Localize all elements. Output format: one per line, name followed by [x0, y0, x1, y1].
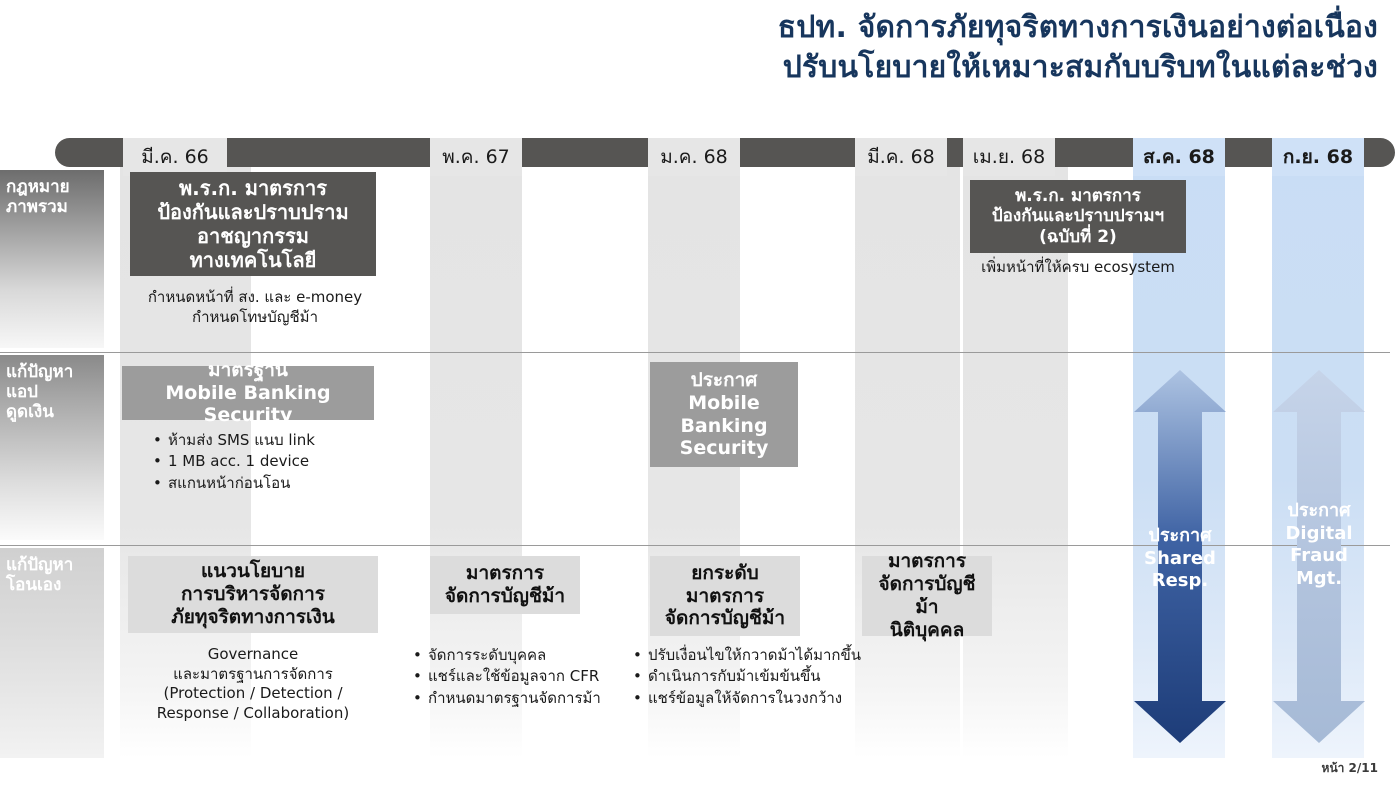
subtext-line-4: Response / Collaboration) — [113, 704, 393, 724]
card-title-line-4: Security — [680, 437, 769, 460]
card-title-line-1: มาตรฐาน — [130, 359, 366, 382]
subtext-line-1: Governance — [113, 645, 393, 665]
date-chip-2567-05[interactable]: พ.ค. 67 — [430, 138, 522, 176]
bullet-item: แชร์และใช้ข้อมูลจาก CFR — [428, 666, 601, 687]
date-chip-2568-09[interactable]: ก.ย. 68 — [1272, 138, 1364, 176]
date-chip-label: มี.ค. 68 — [867, 142, 935, 172]
date-chip-label: ส.ค. 68 — [1143, 142, 1215, 172]
card-mule-upgrade[interactable]: ยกระดับ มาตรการ จัดการบัญชีม้า — [650, 556, 800, 636]
date-chip-label: พ.ค. 67 — [442, 142, 510, 172]
card-law-2566[interactable]: พ.ร.ก. มาตรการ ป้องกันและปราบปราม อาชญาก… — [130, 172, 376, 276]
title-line-2: ปรับนโยบายให้เหมาะสมกับบริบทในแต่ละช่วง — [558, 48, 1378, 88]
card-title-line-3: อาชญากรรม — [157, 224, 348, 248]
arrow-label: ประกาศ Shared Resp. — [1134, 525, 1226, 593]
card-policy-governance[interactable]: แนวนโยบาย การบริหารจัดการ ภัยทุจริตทางกา… — [128, 556, 378, 633]
bullet-item: 1 MB acc. 1 device — [168, 451, 315, 472]
subtext-line-2: กำหนดโทษบัญชีม้า — [110, 308, 400, 328]
row-label-app-fraud: แก้ปัญหา แอป ดูดเงิน — [0, 355, 104, 540]
row-label-line-1: แก้ปัญหา — [6, 556, 104, 576]
card-law-2568-subtext: เพิ่มหน้าที่ให้ครบ ecosystem — [950, 258, 1206, 278]
card-title-line-4: ทางเทคโนโลยี — [157, 248, 348, 272]
card-title-line-3: ภัยทุจริตทางการเงิน — [171, 606, 334, 629]
card-title-line-3: นิติบุคคล — [870, 619, 984, 642]
arrow-label: ประกาศ Digital Fraud Mgt. — [1273, 500, 1365, 590]
date-chip-2568-04[interactable]: เม.ย. 68 — [963, 138, 1055, 176]
row-label-line-1: กฎหมาย — [6, 178, 104, 198]
date-chip-2568-03[interactable]: มี.ค. 68 — [855, 138, 947, 176]
card-title-line-2: Mobile — [680, 392, 769, 415]
bullet-item: จัดการระดับบุคคล — [428, 645, 601, 666]
arrow-label-line-2: Digital — [1273, 523, 1365, 546]
arrow-digital-fraud-mgt[interactable]: ประกาศ Digital Fraud Mgt. — [1273, 370, 1365, 743]
card-title-line-1: มาตรการ — [445, 562, 565, 585]
bullet-item: กำหนดมาตรฐานจัดการม้า — [428, 688, 601, 709]
arrow-shared-resp[interactable]: ประกาศ Shared Resp. — [1134, 370, 1226, 743]
card-title-line-1: พ.ร.ก. มาตรการ — [157, 176, 348, 200]
bullet-item: ปรับเงื่อนไขให้กวาดม้าได้มากขึ้น — [648, 645, 861, 666]
bullet-item: แชร์ข้อมูลให้จัดการในวงกว้าง — [648, 688, 861, 709]
date-chip-label: มี.ค. 66 — [141, 142, 209, 172]
subtext-line-3: (Protection / Detection / — [113, 684, 393, 704]
subtext-line-1: กำหนดหน้าที่ สง. และ e-money — [110, 288, 400, 308]
card-title-line-2: การบริหารจัดการ — [171, 583, 334, 606]
bullet-item: สแกนหน้าก่อนโอน — [168, 473, 315, 494]
card-law-2566-subtext: กำหนดหน้าที่ สง. และ e-money กำหนดโทษบัญ… — [110, 288, 400, 327]
row-label-line-1: แก้ปัญหา — [6, 363, 104, 383]
arrow-label-line-2: Shared — [1134, 548, 1226, 571]
arrow-label-line-1: ประกาศ — [1273, 500, 1365, 523]
card-title-line-3: Banking — [680, 415, 769, 438]
card-title-line-2: ป้องกันและปราบปราม — [157, 200, 348, 224]
card-title-line-2: ป้องกันและปราบปรามฯ — [992, 206, 1164, 226]
bullet-item: ดำเนินการกับม้าเข้มข้นขึ้น — [648, 666, 861, 687]
page-number: หน้า 2/11 — [1322, 759, 1378, 778]
row-label-line-2: ภาพรวม — [6, 198, 104, 218]
card-title-line-3: จัดการบัญชีม้า — [665, 607, 785, 630]
page-title: ธปท. จัดการภัยทุจริตทางการเงินอย่างต่อเน… — [558, 8, 1378, 87]
card-mule-juristic[interactable]: มาตรการ จัดการบัญชีม้า นิติบุคคล — [862, 556, 992, 636]
subtext-line-1: เพิ่มหน้าที่ให้ครบ ecosystem — [950, 258, 1206, 278]
card-policy-governance-subtext: Governance และมาตรฐานการจัดการ (Protecti… — [113, 645, 393, 723]
card-title-line-1: มาตรการ — [870, 550, 984, 573]
card-title-line-1: พ.ร.ก. มาตรการ — [992, 186, 1164, 206]
date-chip-label: ก.ย. 68 — [1283, 142, 1353, 172]
card-title-line-1: แนวนโยบาย — [171, 560, 334, 583]
card-mule-measures-bullets: จัดการระดับบุคคล แชร์และใช้ข้อมูลจาก CFR… — [412, 645, 601, 709]
card-mbs-standard-bullets: ห้ามส่ง SMS แนบ link 1 MB acc. 1 device … — [152, 430, 315, 494]
arrow-label-line-1: ประกาศ — [1134, 525, 1226, 548]
card-title-line-2: จัดการบัญชีม้า — [870, 573, 984, 619]
arrow-label-line-3: Fraud — [1273, 545, 1365, 568]
row-label-legal-overview: กฎหมาย ภาพรวม — [0, 170, 104, 348]
subtext-line-2: และมาตรฐานการจัดการ — [113, 665, 393, 685]
card-law-2568[interactable]: พ.ร.ก. มาตรการ ป้องกันและปราบปรามฯ (ฉบับ… — [970, 180, 1186, 253]
card-title-line-2: มาตรการ — [665, 585, 785, 608]
card-mbs-announcement[interactable]: ประกาศ Mobile Banking Security — [650, 362, 798, 467]
row-label-line-2: แอป — [6, 383, 104, 403]
date-chip-label: ม.ค. 68 — [660, 142, 728, 172]
slide-canvas: ธปท. จัดการภัยทุจริตทางการเงินอย่างต่อเน… — [0, 0, 1400, 788]
date-chip-2568-01[interactable]: ม.ค. 68 — [648, 138, 740, 176]
card-title-line-2: Mobile Banking Security — [130, 382, 366, 428]
card-mule-measures[interactable]: มาตรการ จัดการบัญชีม้า — [430, 556, 580, 614]
card-title-line-1: ยกระดับ — [665, 562, 785, 585]
bullet-item: ห้ามส่ง SMS แนบ link — [168, 430, 315, 451]
row-label-line-3: ดูดเงิน — [6, 403, 104, 423]
row-label-line-2: โอนเอง — [6, 576, 104, 596]
card-mule-upgrade-bullets: ปรับเงื่อนไขให้กวาดม้าได้มากขึ้น ดำเนินก… — [632, 645, 861, 709]
date-chip-2568-08[interactable]: ส.ค. 68 — [1133, 138, 1225, 176]
card-title-line-1: ประกาศ — [680, 369, 769, 392]
column-band-2568-03 — [855, 138, 960, 758]
row-label-self-transfer: แก้ปัญหา โอนเอง — [0, 548, 104, 758]
row-divider-1 — [0, 352, 1390, 353]
card-title-line-3: (ฉบับที่ 2) — [992, 227, 1164, 247]
date-chip-label: เม.ย. 68 — [973, 142, 1045, 172]
arrow-label-line-3: Resp. — [1134, 570, 1226, 593]
card-title-line-2: จัดการบัญชีม้า — [445, 585, 565, 608]
title-line-1: ธปท. จัดการภัยทุจริตทางการเงินอย่างต่อเน… — [778, 10, 1378, 45]
arrow-label-line-4: Mgt. — [1273, 568, 1365, 591]
date-chip-2566-03[interactable]: มี.ค. 66 — [123, 138, 227, 176]
card-mbs-standard[interactable]: มาตรฐาน Mobile Banking Security — [122, 366, 374, 420]
